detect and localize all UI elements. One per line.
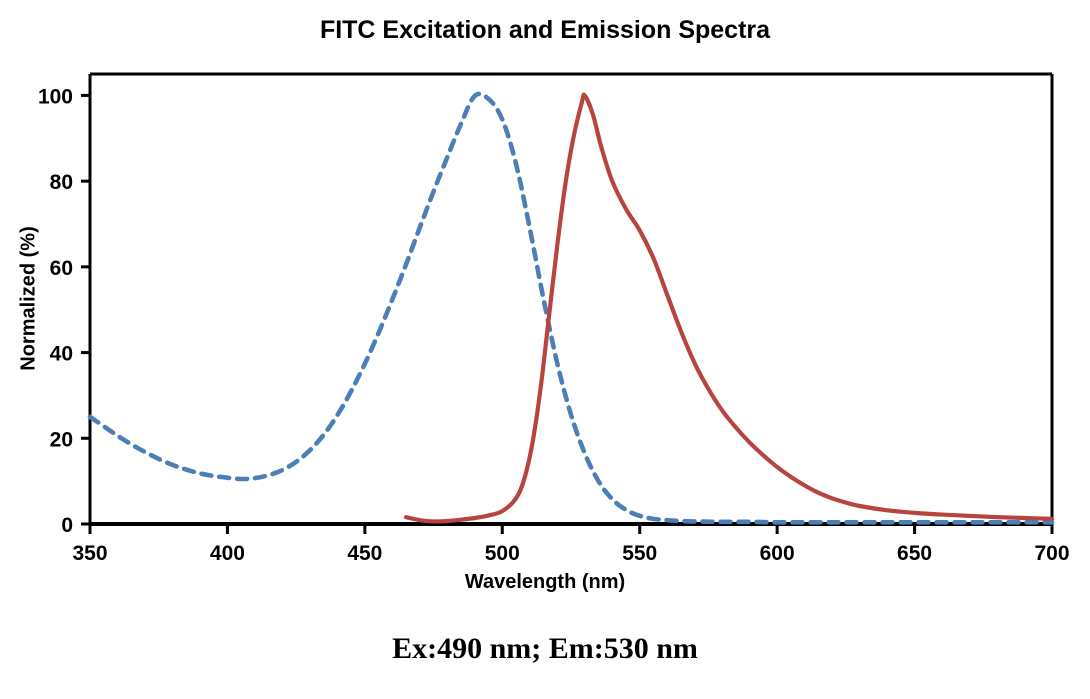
- x-tick-label: 650: [897, 542, 932, 565]
- figure-container: FITC Excitation and Emission Spectra Nor…: [0, 0, 1090, 699]
- y-tick-label: 40: [50, 343, 73, 366]
- series-line-emission: [406, 95, 1052, 522]
- x-tick-label: 350: [72, 542, 107, 565]
- y-tick-label: 100: [38, 85, 73, 108]
- chart-plot-area: 020406080100350400450500550600650700: [0, 0, 1090, 699]
- x-tick-label: 600: [760, 542, 795, 565]
- x-tick-label: 550: [622, 542, 657, 565]
- y-tick-label: 20: [50, 428, 73, 451]
- series-layer: [90, 94, 1052, 522]
- y-tick-label: 60: [50, 257, 73, 280]
- tick-labels-layer: 020406080100350400450500550600650700: [38, 85, 1070, 565]
- y-tick-label: 80: [50, 171, 73, 194]
- y-tick-label: 0: [61, 514, 73, 537]
- x-tick-label: 500: [485, 542, 520, 565]
- figure-caption: Ex:490 nm; Em:530 nm: [0, 632, 1090, 666]
- x-tick-label: 400: [210, 542, 245, 565]
- x-tick-label: 450: [347, 542, 382, 565]
- axes-layer: [81, 74, 1053, 534]
- x-tick-label: 700: [1034, 542, 1069, 565]
